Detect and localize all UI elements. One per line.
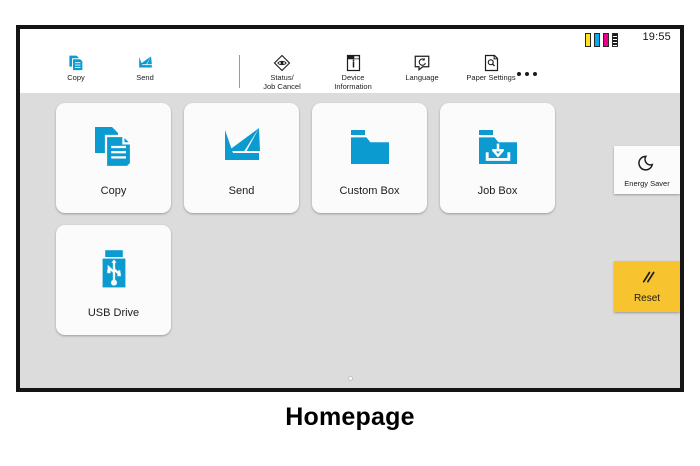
toolbar-item-language[interactable]: Language [391,53,453,83]
toolbar-item-device-information-label: Device Information [322,74,384,91]
ellipsis-dot [533,72,537,76]
ellipsis-dot [525,72,529,76]
reset-label: Reset [634,293,660,304]
status-strip: 19:55 [20,29,680,50]
toner-magenta-icon [603,33,609,47]
app-tile-grid: Copy Send [56,103,576,347]
moon-icon [638,153,656,176]
toolbar-item-status-job-cancel-label: Status/ Job Cancel [251,74,313,91]
tile-row: USB Drive [56,225,576,335]
language-icon [391,53,453,73]
tile-copy-label: Copy [101,185,127,197]
home-content: Copy Send [20,93,680,388]
tile-copy[interactable]: Copy [56,103,171,213]
tile-custom-box-label: Custom Box [340,185,400,197]
ellipsis-dot [517,72,521,76]
tile-job-box[interactable]: Job Box [440,103,555,213]
toner-cyan-icon [594,33,600,47]
tile-job-box-label: Job Box [478,185,518,197]
toolbar-divider [239,55,240,88]
toolbar-item-copy[interactable]: Copy [45,53,107,83]
status-job-cancel-icon [251,53,313,73]
toolbar-item-paper-settings[interactable]: Paper Settings [460,53,522,83]
tile-custom-box[interactable]: Custom Box [312,103,427,213]
clock: 19:55 [642,31,671,43]
energy-saver-label: Energy Saver [624,179,669,188]
toolbar-item-language-label: Language [391,74,453,83]
send-icon [114,53,176,73]
reset-button[interactable]: Reset [614,261,680,312]
tile-usb-drive[interactable]: USB Drive [56,225,171,335]
tile-send-label: Send [229,185,255,197]
toolbar-item-send-label: Send [114,74,176,83]
toolbar-item-device-information[interactable]: Device Information [322,53,384,91]
custom-box-icon [346,119,394,175]
send-tile-icon [218,119,266,175]
paper-settings-icon [460,53,522,73]
toner-yellow-icon [585,33,591,47]
toolbar-item-paper-settings-label: Paper Settings [460,74,522,83]
tile-row: Copy Send [56,103,576,213]
toolbar-item-send[interactable]: Send [114,53,176,83]
toner-level-group [585,33,618,47]
reset-slashes-icon [637,270,657,290]
screenshot-root: 19:55 Copy [0,0,700,466]
energy-saver-button[interactable]: Energy Saver [614,146,680,194]
usb-drive-icon [90,241,138,297]
tile-send[interactable]: Send [184,103,299,213]
more-options-icon[interactable] [517,72,537,76]
page-indicator[interactable] [20,376,680,381]
toolbar-item-copy-label: Copy [45,74,107,83]
job-box-icon [474,119,522,175]
toner-black-icon [612,33,618,47]
top-toolbar: Copy Send [20,50,680,94]
tile-usb-drive-label: USB Drive [88,307,139,319]
printer-control-panel: 19:55 Copy [16,25,684,392]
page-dot-1[interactable] [348,376,353,381]
device-information-icon [322,53,384,73]
toolbar-item-status-job-cancel[interactable]: Status/ Job Cancel [251,53,313,91]
copy-icon [45,53,107,73]
figure-caption: Homepage [0,403,700,432]
copy-tile-icon [90,119,138,175]
